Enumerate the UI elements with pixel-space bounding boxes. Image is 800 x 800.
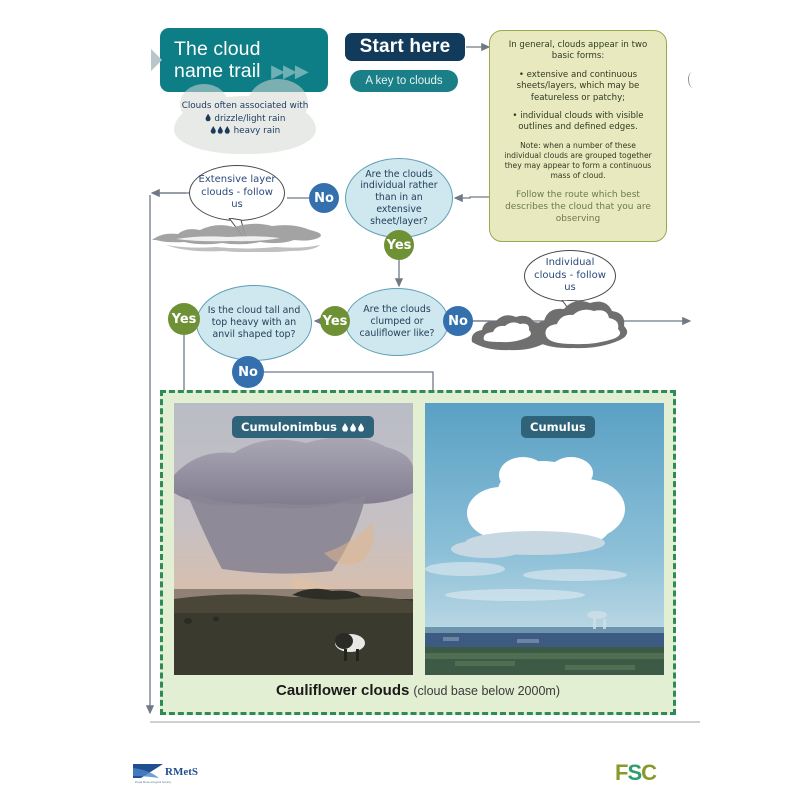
raindrop-icon bbox=[224, 126, 230, 134]
info-line-1: In general, clouds appear in two basic f… bbox=[501, 40, 655, 63]
photo-cumulonimbus: Cumulonimbus bbox=[174, 403, 413, 675]
label-cumulonimbus: Cumulonimbus bbox=[232, 416, 374, 438]
photo-cumulus: Cumulus bbox=[425, 403, 664, 675]
raindrop-icon bbox=[350, 423, 357, 432]
badge-no-q1[interactable]: No bbox=[309, 183, 339, 213]
badge-yes-q3[interactable]: Yes bbox=[168, 303, 200, 335]
bubble-individual-clouds: Individual clouds - follow us bbox=[524, 250, 616, 302]
fsc-letter-f: F bbox=[615, 760, 627, 785]
question-node-anvil: Is the cloud tall and top heavy with an … bbox=[196, 285, 312, 361]
badge-no-q3[interactable]: No bbox=[232, 356, 264, 388]
raindrop-icon bbox=[210, 126, 216, 134]
layer-cloud-sketch-icon bbox=[146, 220, 336, 252]
cumulus-image bbox=[425, 403, 664, 675]
info-note: Note: when a number of these individual … bbox=[501, 141, 655, 181]
poster-title-plaque: The cloud name trail ▶▶▶ bbox=[160, 28, 328, 92]
page-edge-arc-mark bbox=[687, 72, 697, 89]
info-bullet-1: • extensive and continuous sheets/layers… bbox=[501, 70, 655, 104]
cauliflower-clouds-panel: Cumulonimbus bbox=[160, 390, 676, 715]
info-bullet-2: • individual clouds with visible outline… bbox=[501, 111, 655, 134]
legend-drizzle-label: drizzle/light rain bbox=[214, 114, 285, 124]
rmets-subtitle: Royal Meteorological Society bbox=[135, 780, 172, 784]
poster-title: The cloud name trail ▶▶▶ bbox=[160, 38, 307, 82]
intro-info-box: In general, clouds appear in two basic f… bbox=[489, 30, 667, 242]
title-line-1: The cloud bbox=[174, 38, 261, 60]
fsc-logo: FSC bbox=[615, 760, 656, 786]
question-node-individual: Are the clouds individual rather than in… bbox=[345, 158, 453, 238]
raindrop-icon bbox=[358, 423, 365, 432]
rain-legend: Clouds often associated with drizzle/lig… bbox=[160, 100, 330, 138]
legend-drizzle-row: drizzle/light rain bbox=[160, 113, 330, 126]
panel-caption-bold: Cauliflower clouds bbox=[276, 682, 409, 699]
triangle-left-icon bbox=[151, 49, 162, 71]
rmets-wordmark: RMetS bbox=[165, 766, 198, 778]
start-here-badge[interactable]: Start here bbox=[345, 33, 465, 61]
label-cumulus: Cumulus bbox=[521, 416, 595, 438]
individual-clouds-sketch-icon bbox=[470, 300, 655, 355]
cloud-name-trail-poster: The cloud name trail ▶▶▶ Clouds often as… bbox=[0, 0, 800, 800]
question-node-clumped: Are the clouds clumped or cauliflower li… bbox=[345, 288, 449, 356]
bubble-extensive-layer-clouds: Extensive layer clouds - follow us bbox=[189, 165, 285, 221]
raindrop-icon bbox=[217, 126, 223, 134]
panel-caption-sub: (cloud base below 2000m) bbox=[413, 684, 560, 698]
badge-yes-q2[interactable]: Yes bbox=[320, 306, 350, 336]
title-line-2: name trail bbox=[174, 60, 261, 82]
rmets-logo-icon: RMetS Royal Meteorological Society bbox=[133, 762, 203, 786]
fsc-letter-s: S bbox=[627, 760, 641, 785]
fsc-letter-c: C bbox=[641, 760, 656, 785]
legend-heavy-row: heavy rain bbox=[160, 125, 330, 138]
cumulonimbus-image bbox=[174, 403, 413, 675]
key-to-clouds-badge: A key to clouds bbox=[350, 70, 458, 92]
raindrop-icon bbox=[205, 114, 211, 122]
badge-yes-q1[interactable]: Yes bbox=[384, 230, 414, 260]
badge-no-q2[interactable]: No bbox=[443, 306, 473, 336]
label-cumulonimbus-text: Cumulonimbus bbox=[241, 420, 337, 434]
rmets-logo: RMetS Royal Meteorological Society bbox=[133, 762, 203, 786]
info-follow-route: Follow the route which best describes th… bbox=[501, 189, 655, 226]
legend-heavy-label: heavy rain bbox=[234, 126, 281, 136]
panel-caption: Cauliflower clouds (cloud base below 200… bbox=[163, 682, 673, 699]
raindrop-icon bbox=[342, 423, 349, 432]
legend-intro: Clouds often associated with bbox=[160, 100, 330, 113]
